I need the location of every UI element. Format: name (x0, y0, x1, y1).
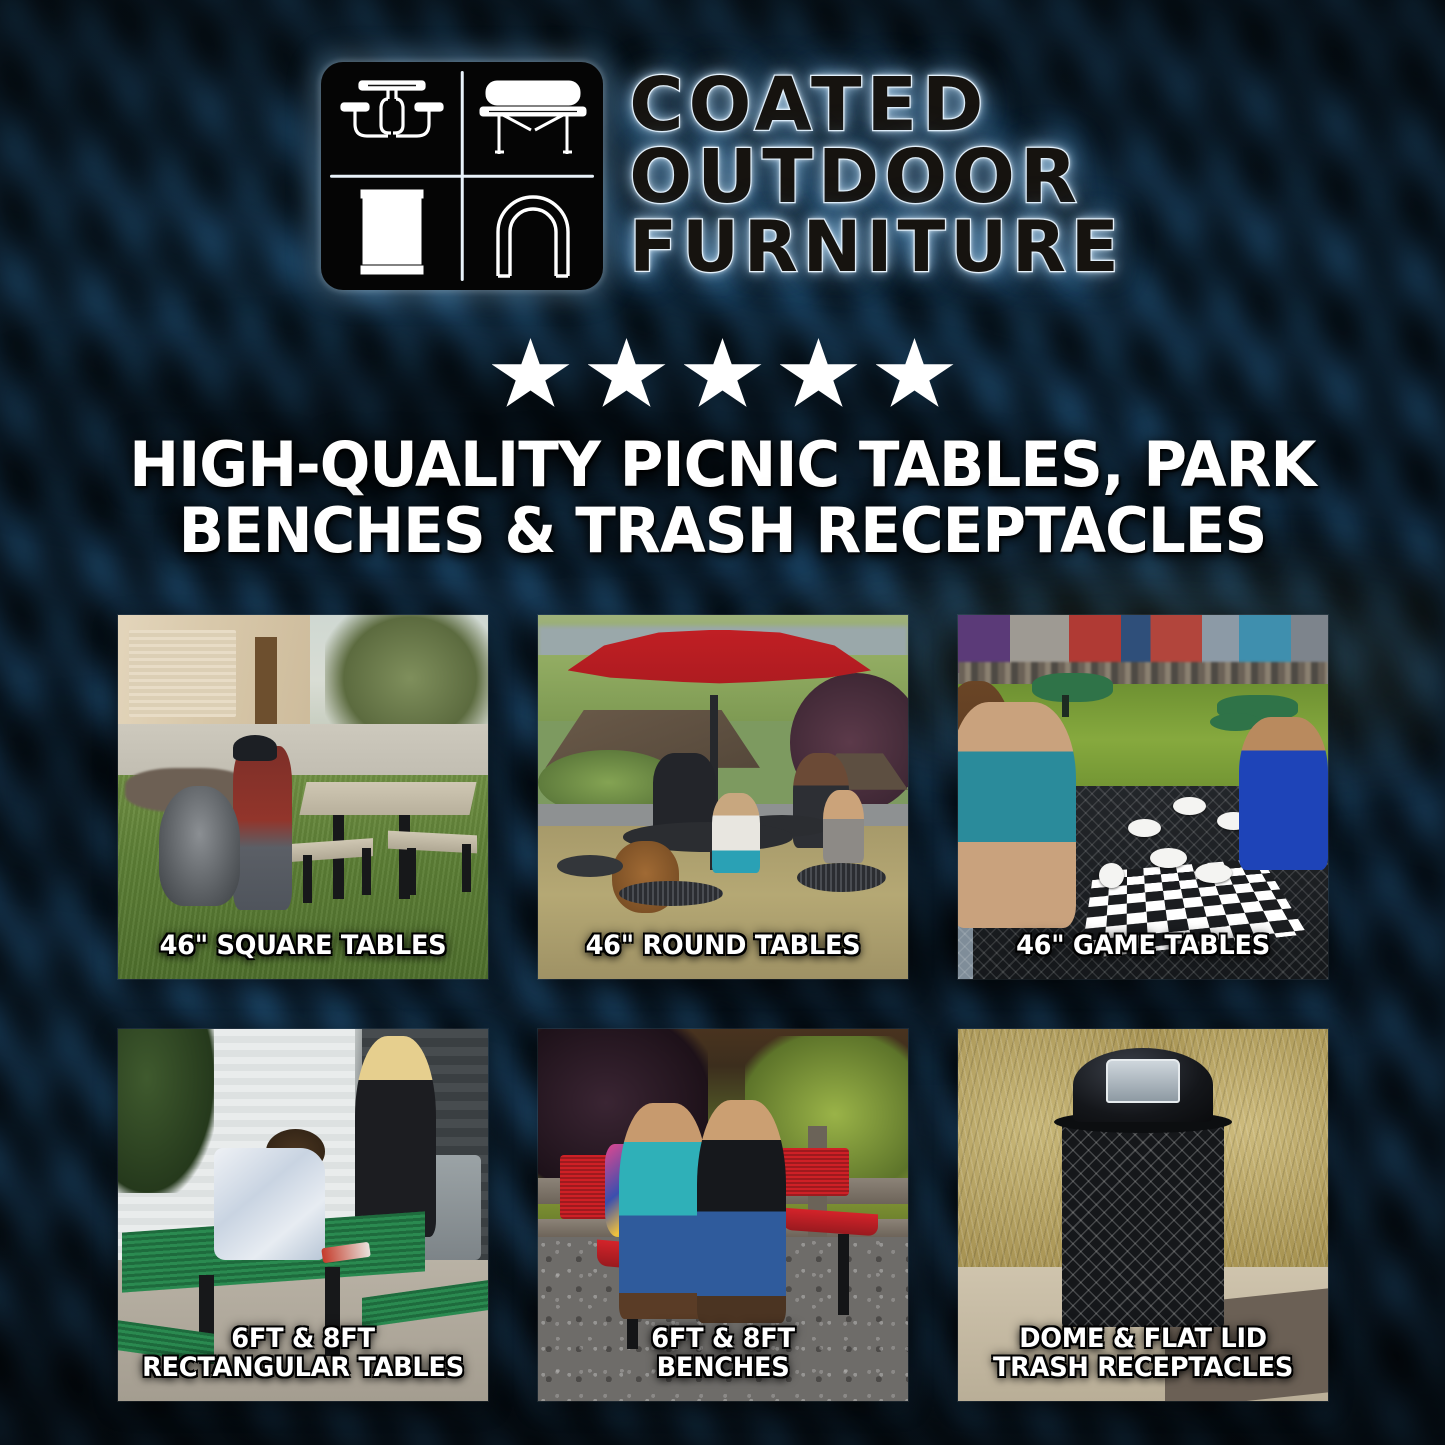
product-grid: 46" SQUARE TABLES (118, 615, 1328, 1401)
product-caption: 46" GAME TABLES (958, 932, 1328, 961)
brand-name-line-2: OUTDOOR (629, 142, 1082, 214)
headline-line-2: BENCHES & TRASH RECEPTACLES (96, 498, 1349, 564)
star-icon (684, 338, 762, 412)
product-tile-trash-receptacles[interactable]: DOME & FLAT LID TRASH RECEPTACLES (958, 1029, 1328, 1401)
product-photo-game-tables (958, 615, 1328, 979)
product-caption: 6FT & 8FT RECTANGULAR TABLES (118, 1325, 488, 1383)
product-caption: 46" ROUND TABLES (538, 932, 908, 961)
caption-line: 46" GAME TABLES (975, 932, 1311, 961)
caption-line: 46" ROUND TABLES (555, 932, 891, 961)
caption-line: TRASH RECEPTACLES (975, 1354, 1311, 1383)
promo-poster: COATED OUTDOOR FURNITURE HIGH-QUALITY PI… (0, 0, 1445, 1445)
brand-name: COATED OUTDOOR FURNITURE (629, 70, 1124, 281)
star-icon (588, 338, 666, 412)
product-caption: 46" SQUARE TABLES (118, 932, 488, 961)
product-tile-round-tables[interactable]: 46" ROUND TABLES (538, 615, 908, 979)
brand-logo: COATED OUTDOOR FURNITURE (0, 62, 1445, 290)
rating-stars (0, 338, 1445, 412)
brand-name-line-3: FURNITURE (629, 214, 1124, 282)
star-icon (780, 338, 858, 412)
caption-line: 6FT & 8FT (135, 1325, 471, 1354)
caption-line: 46" SQUARE TABLES (135, 932, 471, 961)
star-icon (876, 338, 954, 412)
trash-receptacle-icon (321, 176, 462, 290)
product-photo-round-tables (538, 615, 908, 979)
product-caption: 6FT & 8FT BENCHES (538, 1325, 908, 1383)
product-tile-benches[interactable]: 6FT & 8FT BENCHES (538, 1029, 908, 1401)
brand-name-line-1: COATED (629, 70, 988, 142)
headline-line-1: HIGH-QUALITY PICNIC TABLES, PARK (96, 432, 1349, 498)
star-icon (492, 338, 570, 412)
headline: HIGH-QUALITY PICNIC TABLES, PARK BENCHES… (0, 432, 1445, 565)
caption-line: BENCHES (555, 1354, 891, 1383)
picnic-table-front-icon (321, 62, 462, 176)
product-tile-game-tables[interactable]: 46" GAME TABLES (958, 615, 1328, 979)
product-photo-square-tables (118, 615, 488, 979)
caption-line: RECTANGULAR TABLES (135, 1354, 471, 1383)
caption-line: 6FT & 8FT (555, 1325, 891, 1354)
picnic-table-side-icon (462, 62, 603, 176)
product-tile-square-tables[interactable]: 46" SQUARE TABLES (118, 615, 488, 979)
product-caption: DOME & FLAT LID TRASH RECEPTACLES (958, 1325, 1328, 1383)
product-tile-rectangular-tables[interactable]: 6FT & 8FT RECTANGULAR TABLES (118, 1029, 488, 1401)
bike-rack-arch-icon (462, 176, 603, 290)
caption-line: DOME & FLAT LID (975, 1325, 1311, 1354)
logo-icon-grid (321, 62, 603, 290)
